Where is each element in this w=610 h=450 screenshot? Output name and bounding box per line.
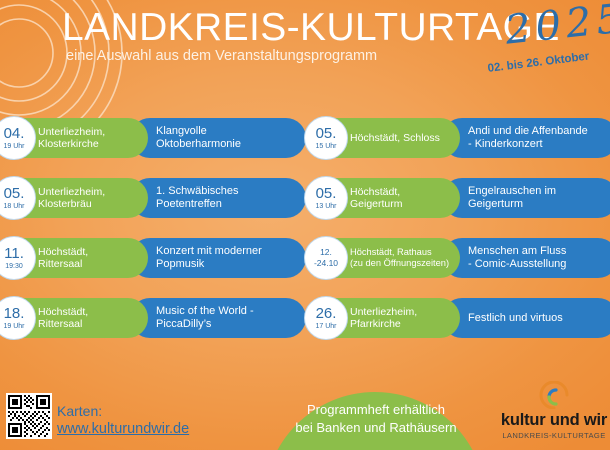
event-venue-line: Unterliezheim, — [350, 306, 446, 319]
event-title-line: Oktoberharmonie — [156, 138, 296, 151]
event-title-line: Andi und die Affenbande — [468, 125, 608, 138]
event-title-line: Festlich und virtuos — [468, 312, 608, 325]
date-range-label: 02. bis 26. Oktober — [487, 51, 590, 75]
event-venue-line: Klosterbräu — [38, 198, 134, 211]
programme-blob-text: Programmheft erhältlich bei Banken und R… — [272, 401, 480, 437]
event-title-line: - Kinderkonzert — [468, 138, 608, 151]
event-venue-line: Rittersaal — [38, 258, 134, 271]
event-day: 05. — [316, 126, 337, 141]
logo-subtitle: LANDKREIS-KULTURTAGE — [498, 430, 610, 441]
event-venue-line: Unterliezheim, — [38, 186, 134, 199]
event-date-badge: 05. 13 Uhr — [304, 176, 348, 220]
event-time: 19:30 — [5, 262, 23, 271]
event-day: 26. — [316, 306, 337, 321]
event-day: 04. — [4, 126, 25, 141]
event-day: 05. — [316, 186, 337, 201]
event-title-line: Music of the World - — [156, 305, 296, 318]
event-title-line: PiccaDilly’s — [156, 318, 296, 331]
event-time: 19 Uhr — [3, 142, 24, 151]
event-title-pill: Festlich und virtuos — [442, 298, 610, 338]
event-time: 17 Uhr — [315, 322, 336, 331]
event-day: 12. — [320, 248, 332, 258]
page-title: LANDKREIS-KULTURTAGE — [62, 6, 560, 50]
event-venue-line: Klosterkirche — [38, 138, 134, 151]
event-title-line: Geigerturm — [468, 198, 608, 211]
event-column-left: Klangvolle Oktoberharmonie Unterliezheim… — [0, 118, 298, 358]
event-title-pill: Menschen am Fluss - Comic-Ausstellung — [442, 238, 610, 278]
event-row[interactable]: Festlich und virtuos Unterliezheim, Pfar… — [304, 298, 610, 338]
event-venue-line: Geigerturm — [350, 198, 446, 211]
event-row[interactable]: Menschen am Fluss - Comic-Ausstellung Hö… — [304, 238, 610, 278]
event-title-line: Popmusik — [156, 258, 296, 271]
event-date-badge: 12. -24.10 — [304, 236, 348, 280]
year-label: 2025 — [503, 0, 610, 54]
event-day: 05. — [4, 186, 25, 201]
brand-logo: kultur und wir LANDKREIS-KULTURTAGE — [498, 381, 610, 441]
qr-code[interactable] — [6, 393, 52, 439]
event-time: -24.10 — [314, 259, 338, 268]
event-title-line: - Comic-Ausstellung — [468, 258, 608, 271]
event-time: 13 Uhr — [315, 202, 336, 211]
event-venue-line: Höchstädt, Schloss — [350, 132, 446, 145]
poster-header: LANDKREIS-KULTURTAGE eine Auswahl aus de… — [0, 0, 610, 104]
event-row[interactable]: Music of the World - PiccaDilly’s Höchst… — [0, 298, 298, 338]
event-title-pill: Andi und die Affenbande - Kinderkonzert — [442, 118, 610, 158]
programme-blob-line: bei Banken und Rathäusern — [272, 419, 480, 437]
event-time: 19 Uhr — [3, 322, 24, 331]
tickets-url-link[interactable]: www.kulturundwir.de — [57, 420, 189, 438]
event-time: 15 Uhr — [315, 142, 336, 151]
event-row[interactable]: Engelrauschen im Geigerturm Höchstädt, G… — [304, 178, 610, 218]
event-row[interactable]: 1. Schwäbisches Poetentreffen Unterliezh… — [0, 178, 298, 218]
event-row[interactable]: Klangvolle Oktoberharmonie Unterliezheim… — [0, 118, 298, 158]
kultur-und-wir-logo-icon — [537, 381, 571, 409]
event-venue-line: (zu den Öffnungszeiten) — [350, 258, 446, 270]
event-row[interactable]: Andi und die Affenbande - Kinderkonzert … — [304, 118, 610, 158]
event-title-line: 1. Schwäbisches — [156, 185, 296, 198]
event-venue-line: Rittersaal — [38, 318, 134, 331]
event-day: 18. — [4, 306, 25, 321]
event-title-pill: Konzert mit moderner Popmusik — [130, 238, 306, 278]
event-venue-line: Pfarrkirche — [350, 318, 446, 331]
event-column-right: Andi und die Affenbande - Kinderkonzert … — [304, 118, 610, 358]
tickets-label: Karten: — [57, 403, 189, 420]
event-venue-line: Höchstädt, — [38, 306, 134, 319]
event-title-pill: Engelrauschen im Geigerturm — [442, 178, 610, 218]
event-title-pill: Music of the World - PiccaDilly’s — [130, 298, 306, 338]
event-venue-line: Unterliezheim, — [38, 126, 134, 139]
page-subtitle: eine Auswahl aus dem Veranstaltungsprogr… — [66, 48, 377, 64]
event-venue-line: Höchstädt, — [38, 246, 134, 259]
event-day: 11. — [4, 246, 24, 261]
event-title-line: Konzert mit moderner — [156, 245, 296, 258]
event-row[interactable]: Konzert mit moderner Popmusik Höchstädt,… — [0, 238, 298, 278]
event-title-line: Klangvolle — [156, 125, 296, 138]
event-title-pill: 1. Schwäbisches Poetentreffen — [130, 178, 306, 218]
event-title-pill: Klangvolle Oktoberharmonie — [130, 118, 306, 158]
event-title-line: Poetentreffen — [156, 198, 296, 211]
event-date-badge: 05. 15 Uhr — [304, 116, 348, 160]
poster-root: LANDKREIS-KULTURTAGE eine Auswahl aus de… — [0, 0, 610, 450]
event-title-line: Menschen am Fluss — [468, 245, 608, 258]
event-time: 18 Uhr — [3, 202, 24, 211]
tickets-block: Karten: www.kulturundwir.de — [57, 403, 189, 438]
logo-wordmark: kultur und wir — [498, 411, 610, 430]
event-venue-line: Höchstädt, Rathaus — [350, 247, 446, 259]
programme-blob-line: Programmheft erhältlich — [272, 401, 480, 419]
event-venue-line: Höchstädt, — [350, 186, 446, 199]
event-date-badge: 26. 17 Uhr — [304, 296, 348, 340]
event-title-line: Engelrauschen im — [468, 185, 608, 198]
